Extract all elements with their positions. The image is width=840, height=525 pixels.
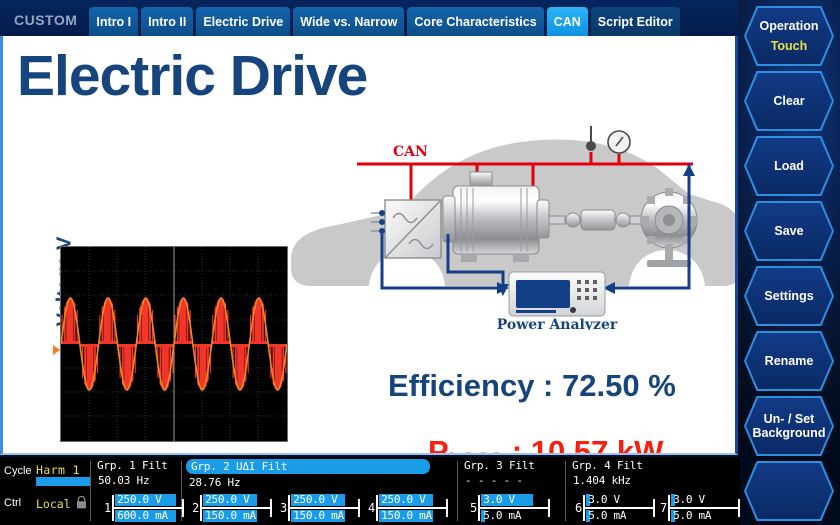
gauge-end-tick [738,499,740,517]
softkey-label: Un- / Set Background [753,412,826,441]
gauge-end-tick [182,499,184,517]
gauge-end-tick [653,499,655,517]
tab-script-editor[interactable]: Script Editor [591,7,680,36]
power-analyzer-device [509,272,605,316]
page-title: Electric Drive [17,48,367,105]
group-title[interactable]: Grp. 2 UΔI Filt [186,459,430,474]
group-title[interactable]: Grp. 1 Filt [95,459,168,472]
softkey-blank[interactable] [744,461,834,521]
channel-row[interactable]: 4250.0 V150.0 mA [368,493,448,523]
scope-caption: VFD Output [60,451,288,455]
gauge-end-tick [548,499,550,517]
soft-key-sidebar: OperationTouchClearLoadSaveSettingsRenam… [738,0,840,525]
pedal-sensor [586,126,596,151]
measurement-group[interactable]: Grp. 4 Filt1.404 kHz [570,459,643,487]
group-title[interactable]: Grp. 4 Filt [570,459,643,472]
power-analyzer-label: Power Analyzer [497,317,618,330]
tab-core-characteristics[interactable]: Core Characteristics [407,7,543,36]
cycle-bar [36,477,90,486]
current-range-value: 150.0 mA [293,509,344,522]
ploss-subscript: LOSS [449,449,503,455]
channel-range-gauge: 250.0 V150.0 mA [376,493,448,523]
tab-can[interactable]: CAN [547,7,588,36]
softkey-label: Operation [759,19,818,33]
current-range-value: 5.0 mA [483,509,521,522]
efficiency-label: Efficiency : [388,368,562,403]
ploss-separator: : [503,434,531,455]
channel-number: 2 [192,501,199,515]
channel-range-gauge: 3.0 V5.0 mA [583,493,655,523]
electric-drive-diagram: CAN [285,112,738,330]
channel-row[interactable]: 73.0 V5.0 mA [660,493,740,523]
softkey-save[interactable]: Save [744,201,834,261]
application-window: CUSTOM Intro IIntro IIElectric DriveWide… [0,0,840,525]
custom-label: CUSTOM [0,12,89,36]
tab-intro-ii[interactable]: Intro II [141,7,193,36]
efficiency-readout: Efficiency : 72.50 % [388,368,676,404]
channel-row[interactable]: 3250.0 V150.0 mA [280,493,360,523]
ctrl-label: Ctrl [4,497,21,509]
current-range-value: 150.0 mA [381,509,432,522]
ctrl-value[interactable]: Local [36,497,71,511]
status-divider [565,461,566,521]
group-frequency: - - - - - [462,474,535,487]
channel-range-gauge: 250.0 V150.0 mA [288,493,360,523]
cycle-label: Cycle [4,465,32,477]
channel-number: 5 [470,501,477,515]
softkey-un-set-background[interactable]: Un- / Set Background [744,396,834,456]
group-frequency: 1.404 kHz [570,474,643,487]
softkey-load[interactable]: Load [744,136,834,196]
softkey-label: Load [774,159,804,173]
softkey-operation[interactable]: OperationTouch [744,6,834,66]
softkey-value: Touch [771,39,808,53]
channel-range-gauge: 3.0 V5.0 mA [668,493,740,523]
voltage-range-value: 3.0 V [673,493,705,506]
inverter-probe-dots [379,210,385,234]
channel-number: 1 [104,501,111,515]
channel-range-gauge: 250.0 V600.0 mA [112,493,184,523]
softkey-rename[interactable]: Rename [744,331,834,391]
tab-list: Intro IIntro IIElectric DriveWide vs. Na… [89,7,682,36]
channel-row[interactable]: 1250.0 V600.0 mA [104,493,184,523]
tab-bar: CUSTOM Intro IIntro IIElectric DriveWide… [0,0,740,36]
scope-block: Voltage V [23,208,288,455]
channel-row[interactable]: 63.0 V5.0 mA [575,493,655,523]
tab-intro-i[interactable]: Intro I [89,7,138,36]
measurement-group[interactable]: Grp. 3 Filt- - - - - [462,459,535,487]
softkey-label: Settings [764,289,813,303]
ploss-symbol: P [428,434,449,455]
channel-row[interactable]: 2250.0 V150.0 mA [192,493,272,523]
voltage-range-value: 3.0 V [588,493,620,506]
channel-range-gauge: 250.0 V150.0 mA [200,493,272,523]
group-frequency: 50.03 Hz [95,474,168,487]
custom-display-panel[interactable]: Electric Drive [0,36,738,455]
group-title[interactable]: Grp. 3 Filt [462,459,535,472]
measurement-group[interactable]: Grp. 1 Filt50.03 Hz [95,459,168,487]
status-bar: Cycle Harm 1 Ctrl Local Grp. 1 Filt50.03… [0,457,740,525]
gauge-end-tick [270,499,272,517]
status-divider [457,461,458,521]
current-range-value: 600.0 mA [117,509,168,522]
power-loss-readout: PLOSS : 10.57 kW [428,434,663,455]
channel-number: 3 [280,501,287,515]
current-range-value: 5.0 mA [588,509,626,522]
softkey-label: Rename [765,354,814,368]
gauge-icon [608,131,630,153]
softkey-label: Save [774,224,803,238]
cycle-value[interactable]: Harm 1 [36,463,80,477]
channel-number: 6 [575,501,582,515]
voltage-range-value: 250.0 V [117,493,161,506]
softkey-face [746,463,832,519]
softkey-label: Clear [773,94,804,108]
lock-icon [76,496,87,509]
voltage-range-value: 3.0 V [483,493,515,506]
channel-number: 7 [660,501,667,515]
channel-number: 4 [368,501,375,515]
gauge-end-tick [358,499,360,517]
softkey-settings[interactable]: Settings [744,266,834,326]
softkey-face [746,8,832,64]
current-range-value: 150.0 mA [205,509,256,522]
voltage-range-value: 250.0 V [293,493,337,506]
channel-row[interactable]: 53.0 V5.0 mA [470,493,550,523]
tab-wide-vs-narrow[interactable]: Wide vs. Narrow [293,7,404,36]
gauge-end-tick [446,499,448,517]
scope-display[interactable] [60,246,288,442]
voltage-range-value: 250.0 V [381,493,425,506]
electric-motor [443,172,549,262]
status-divider [90,461,91,521]
softkey-clear[interactable]: Clear [744,71,834,131]
efficiency-value: 72.50 % [562,368,676,403]
current-range-value: 5.0 mA [673,509,711,522]
voltage-range-value: 250.0 V [205,493,249,506]
can-bus-label: CAN [393,144,428,160]
scope-trigger-marker [53,345,60,355]
inverter [385,200,441,258]
measurement-group[interactable]: Grp. 2 UΔI Filt28.76 Hz [186,459,430,489]
ploss-value: 10.57 kW [531,434,664,455]
channel-range-gauge: 3.0 V5.0 mA [478,493,550,523]
tab-electric-drive[interactable]: Electric Drive [196,7,290,36]
group-frequency: 28.76 Hz [186,476,430,489]
